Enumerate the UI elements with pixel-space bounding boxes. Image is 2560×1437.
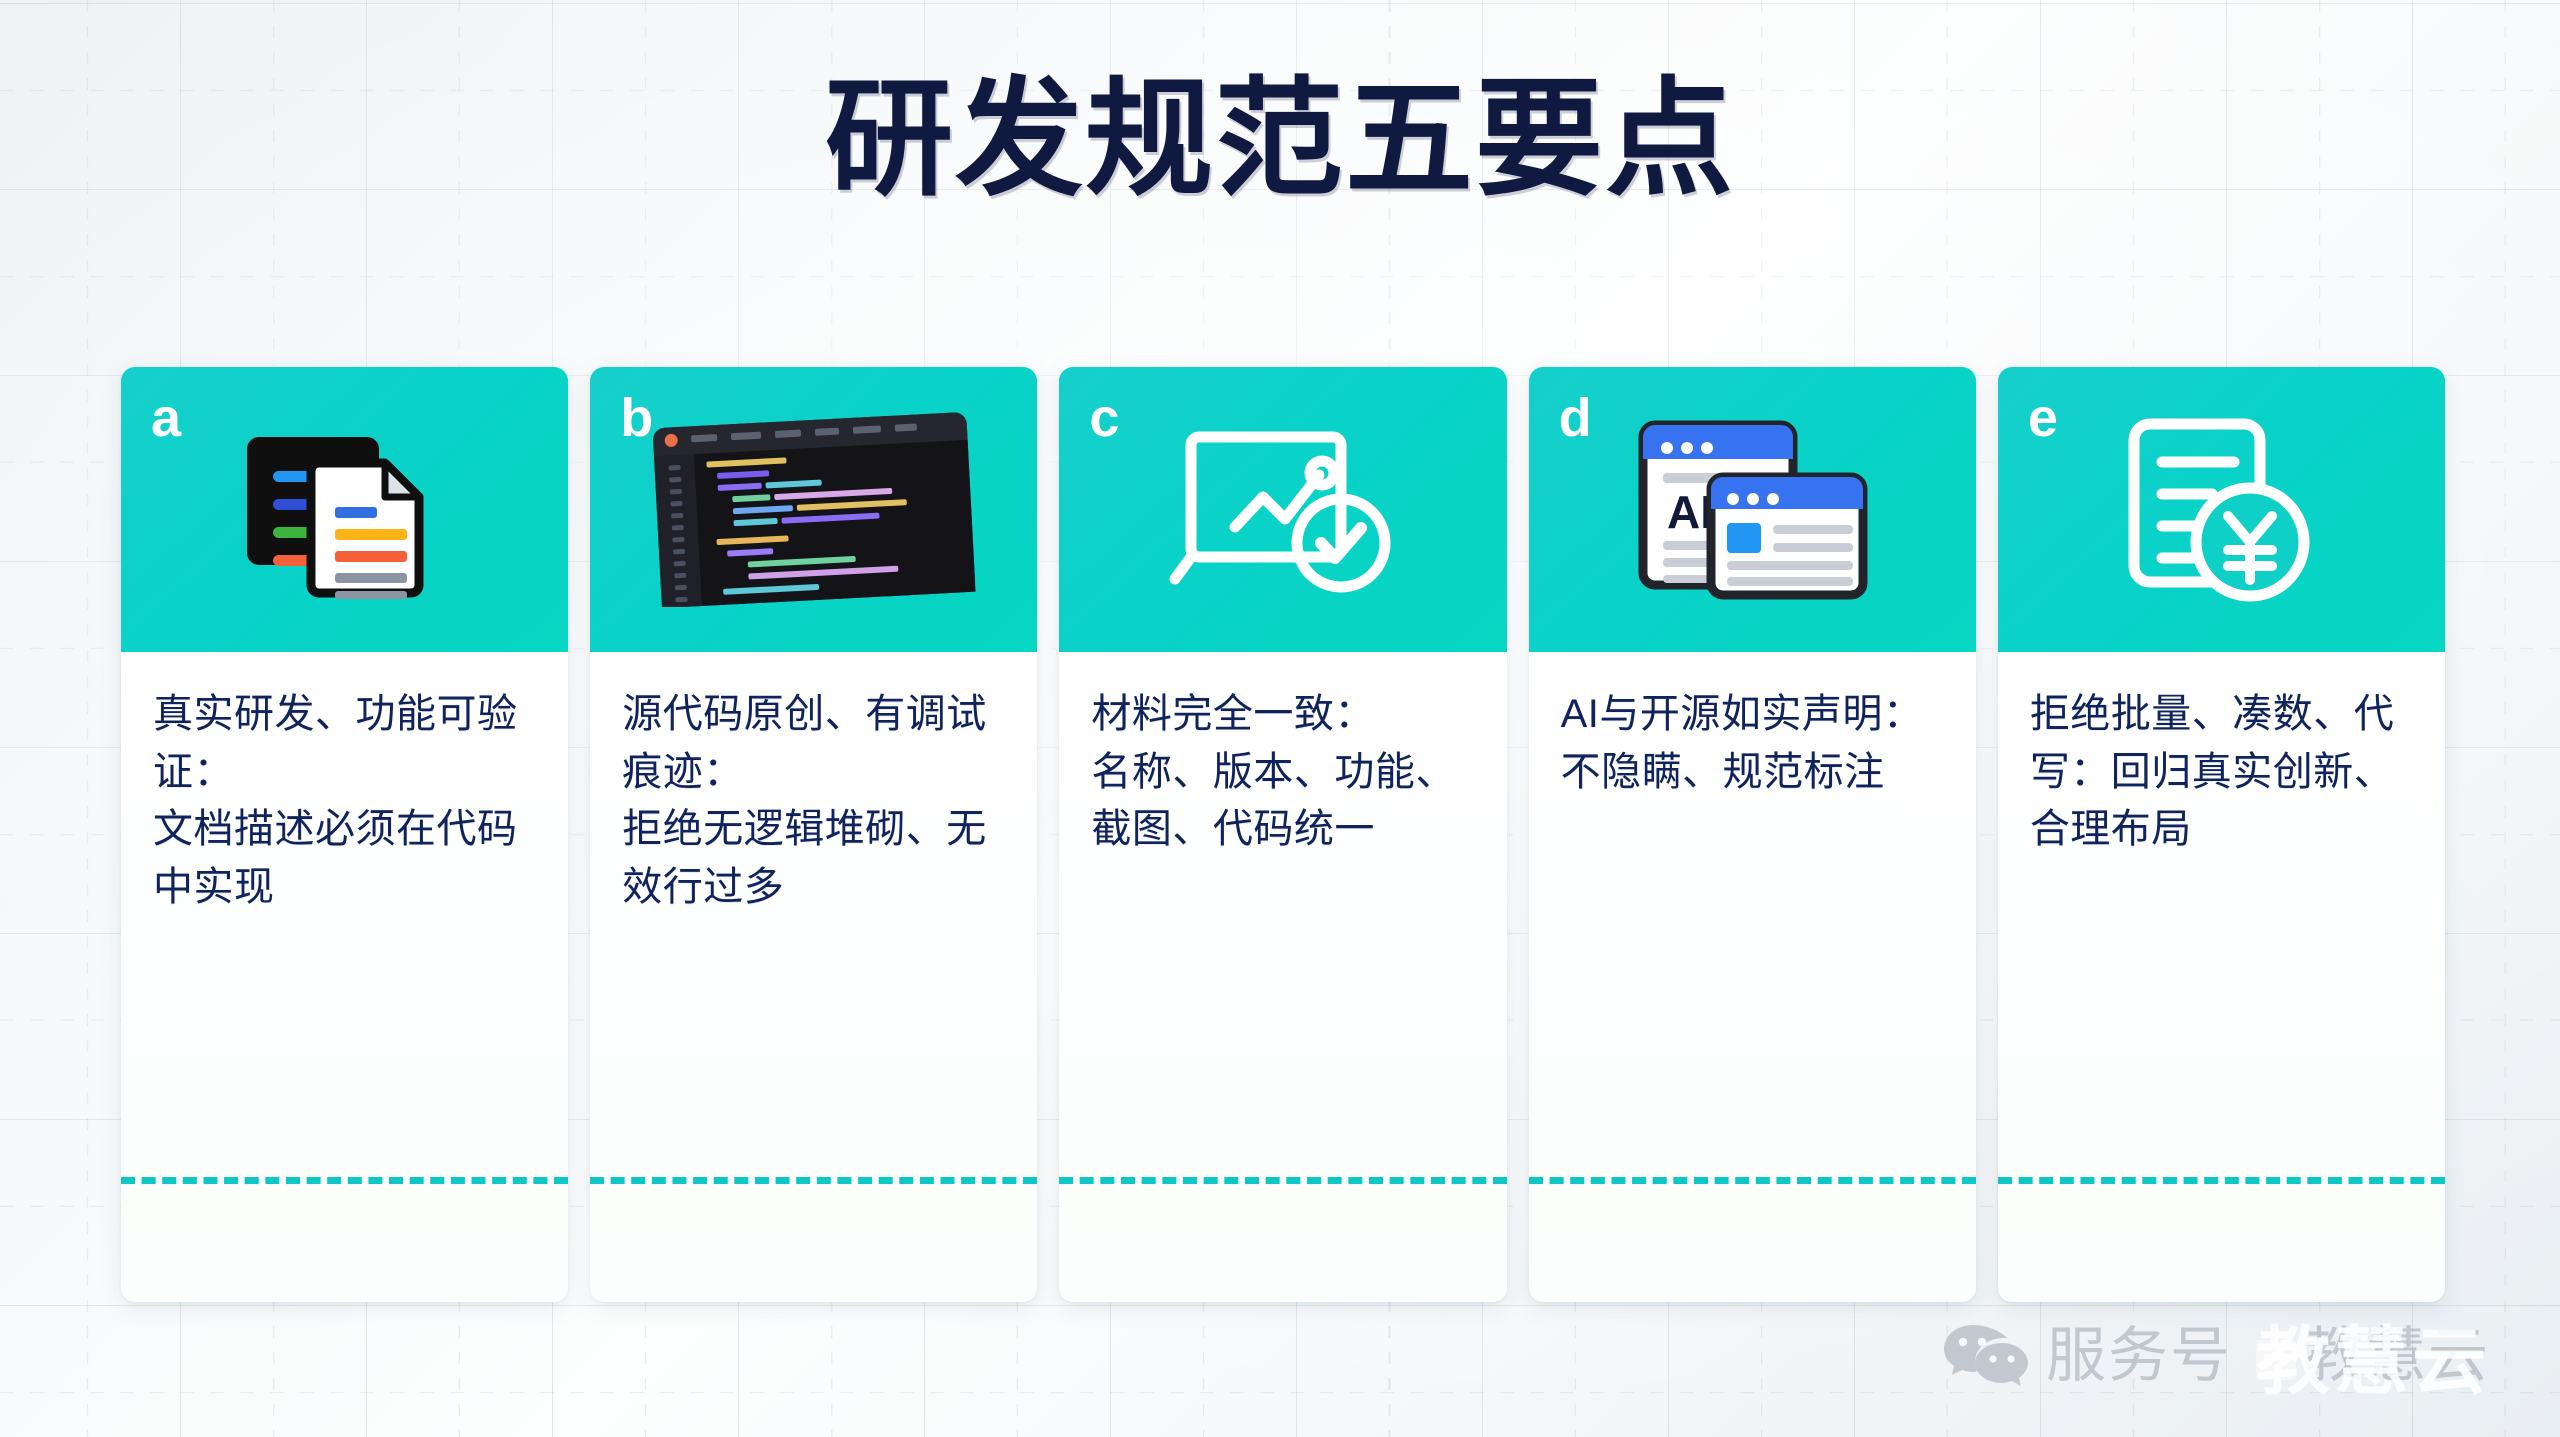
presentation-chart-check-icon [1059,367,1506,652]
card-c[interactable]: c 材料完全一致： 名称、版本、功能、截图、代码统一 [1059,367,1506,1302]
wechat-icon [1942,1321,2028,1391]
code-panel-and-document-icon [121,367,568,652]
card-a-body: 真实研发、功能可验证： 文档描述必须在代码中实现 [121,652,568,1302]
card-d-body: AI与开源如实声明：不隐瞒、规范标注 [1529,652,1976,1302]
footer-account-type: 服务号 [2046,1326,2232,1386]
code-editor-screenshot-icon [590,367,1037,652]
footer-brand: 教慧云 [2256,1326,2490,1386]
svg-text:AI: AI [1667,486,1713,538]
footer-brand-label: 教慧云 [2304,1322,2490,1389]
card-d[interactable]: d AI [1529,367,1976,1302]
card-a[interactable]: a [121,367,568,1302]
card-b-dashed-rule [590,1177,1037,1184]
card-e-text: 拒绝批量、凑数、代写：回归真实创新、合理布局 [2030,686,2413,859]
infographic-canvas: 研发规范五要点 a [0,0,2560,1437]
card-b-header: b [590,367,1037,652]
card-c-text: 材料完全一致： 名称、版本、功能、截图、代码统一 [1091,686,1474,859]
ai-browser-windows-icon: AI [1529,367,1976,652]
card-a-dashed-rule [121,1177,568,1184]
card-d-header: d AI [1529,367,1976,652]
card-e-dashed-rule [1998,1177,2445,1184]
card-b-text: 源代码原创、有调试痕迹： 拒绝无逻辑堆砌、无效行过多 [622,686,1005,916]
card-list: a [121,367,2445,1302]
card-c-body: 材料完全一致： 名称、版本、功能、截图、代码统一 [1059,652,1506,1302]
card-a-text: 真实研发、功能可验证： 文档描述必须在代码中实现 [153,686,536,916]
card-d-dashed-rule [1529,1177,1976,1184]
card-c-header: c [1059,367,1506,652]
card-b-body: 源代码原创、有调试痕迹： 拒绝无逻辑堆砌、无效行过多 [590,652,1037,1302]
card-a-header: a [121,367,568,652]
footer-watermark: 服务号 教慧云 [1942,1321,2490,1391]
card-c-dashed-rule [1059,1177,1506,1184]
card-e-body: 拒绝批量、凑数、代写：回归真实创新、合理布局 [1998,652,2445,1302]
brand-mark-icon [2256,1340,2296,1380]
card-b[interactable]: b [590,367,1037,1302]
card-e[interactable]: e [1998,367,2445,1302]
document-yuan-badge-icon [1998,367,2445,652]
card-e-header: e [1998,367,2445,652]
card-d-text: AI与开源如实声明：不隐瞒、规范标注 [1561,686,1944,801]
page-title: 研发规范五要点 [0,58,2560,222]
